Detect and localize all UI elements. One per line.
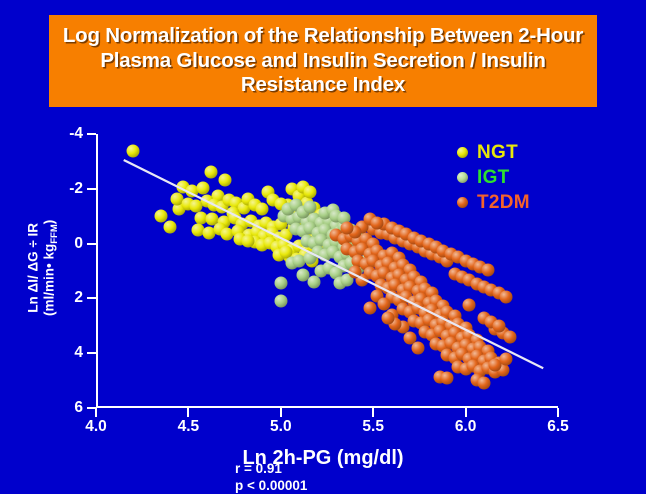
- y-tick-mark: [87, 133, 96, 135]
- legend: NGTIGTT2DM: [457, 140, 530, 215]
- y-axis-title-line1: Ln ΔI/ ΔG ÷ IR: [25, 223, 40, 313]
- y-tick-mark: [87, 188, 96, 190]
- y-tick-mark: [87, 352, 96, 354]
- y-axis-title: Ln ΔI/ ΔG ÷ IR (ml/min• kgFFM): [20, 150, 68, 385]
- legend-marker-icon: [457, 172, 468, 183]
- y-tick-label: -2: [69, 180, 83, 198]
- title-banner: Log Normalization of the Relationship Be…: [49, 15, 597, 107]
- x-axis-title: Ln 2h-PG (mg/dl): [0, 447, 646, 470]
- x-tick-label: 6.5: [547, 418, 569, 436]
- legend-label: NGT: [477, 142, 518, 164]
- pvalue-label: p < 0.00001: [235, 477, 307, 494]
- y-tick-label: 6: [74, 399, 83, 417]
- legend-item-t2dm[interactable]: T2DM: [457, 190, 530, 215]
- x-tick-mark: [465, 408, 467, 417]
- x-tick-mark: [557, 408, 559, 417]
- y-axis-title-line2-post: ): [41, 219, 56, 224]
- slide-canvas: Log Normalization of the Relationship Be…: [0, 0, 646, 488]
- x-tick-label: 4.5: [178, 418, 200, 436]
- legend-item-igt[interactable]: IGT: [457, 165, 530, 190]
- y-tick-mark: [87, 297, 96, 299]
- x-tick-label: 5.5: [362, 418, 384, 436]
- x-tick-mark: [280, 408, 282, 417]
- legend-item-ngt[interactable]: NGT: [457, 140, 530, 165]
- y-axis-title-line2-pre: (ml/min• kg: [41, 243, 56, 315]
- legend-marker-icon: [457, 197, 468, 208]
- y-tick-label: -4: [69, 125, 83, 143]
- x-tick-label: 6.0: [455, 418, 477, 436]
- legend-marker-icon: [457, 147, 468, 158]
- x-tick-mark: [95, 408, 97, 417]
- x-tick-label: 4.0: [85, 418, 107, 436]
- y-tick-label: 0: [74, 235, 83, 253]
- y-tick-mark: [87, 243, 96, 245]
- y-tick-label: 2: [74, 289, 83, 307]
- y-axis-title-subscript: FFM: [49, 224, 60, 244]
- x-tick-label: 5.0: [270, 418, 292, 436]
- y-tick-label: 4: [74, 344, 83, 362]
- page-title: Log Normalization of the Relationship Be…: [49, 24, 597, 98]
- x-tick-mark: [187, 408, 189, 417]
- x-tick-mark: [372, 408, 374, 417]
- legend-label: T2DM: [477, 192, 530, 214]
- legend-label: IGT: [477, 167, 510, 189]
